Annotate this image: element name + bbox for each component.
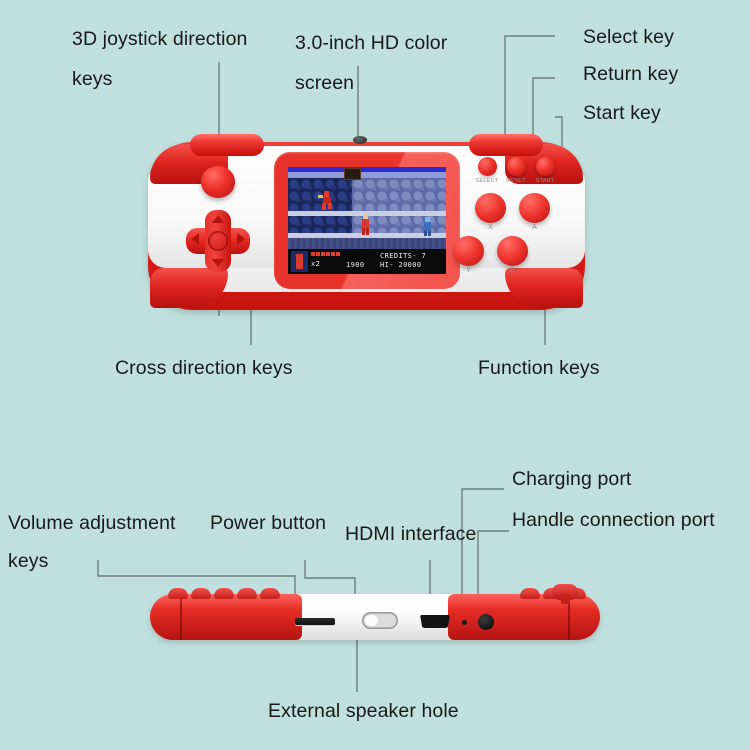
label-joystick-line2: keys bbox=[72, 66, 113, 92]
label-volume-line1: Volume adjustment bbox=[8, 510, 176, 536]
label-cross-direction-keys: Cross direction keys bbox=[115, 355, 293, 381]
hud-health-bar bbox=[311, 252, 340, 256]
volume-bumps[interactable] bbox=[168, 588, 280, 600]
shoulder-button-left[interactable] bbox=[190, 134, 264, 156]
label-joystick-line1: 3D joystick direction bbox=[72, 26, 248, 52]
console-edge-cap-right bbox=[448, 594, 600, 640]
charging-jack[interactable] bbox=[552, 584, 578, 600]
button-y[interactable] bbox=[453, 236, 484, 266]
dpad-left-icon[interactable] bbox=[191, 233, 199, 245]
hud-score: 1900 bbox=[346, 261, 364, 269]
speaker-grille-top bbox=[353, 136, 367, 144]
game-sky-haze bbox=[288, 172, 446, 178]
console-edge-cap-left bbox=[150, 594, 302, 640]
label-hdmi-interface: HDMI interface bbox=[345, 521, 476, 547]
start-button-caption: START bbox=[528, 178, 562, 184]
select-button[interactable] bbox=[478, 157, 497, 176]
button-x[interactable] bbox=[475, 193, 506, 223]
label-return-key: Return key bbox=[583, 61, 678, 87]
dpad-down-icon[interactable] bbox=[212, 259, 224, 267]
indicator-dot bbox=[462, 620, 467, 625]
label-external-speaker-hole: External speaker hole bbox=[268, 698, 459, 724]
start-button[interactable] bbox=[536, 157, 555, 176]
button-b-caption: B bbox=[497, 267, 528, 274]
hud-portrait bbox=[291, 251, 308, 272]
button-a-caption: A bbox=[519, 224, 550, 231]
button-a[interactable] bbox=[519, 193, 550, 223]
hud-hi-score: HI- 20000 bbox=[380, 261, 422, 269]
label-start-key: Start key bbox=[583, 100, 661, 126]
reset-button[interactable] bbox=[507, 157, 526, 176]
label-function-keys: Function keys bbox=[478, 355, 600, 381]
game-screen[interactable]: x2 1900 CREDITS- 7 HI- 20000 bbox=[288, 167, 446, 274]
button-y-caption: Y bbox=[453, 267, 484, 274]
label-power-button: Power button bbox=[210, 510, 326, 536]
dpad[interactable] bbox=[186, 210, 250, 272]
hdmi-port[interactable] bbox=[420, 615, 450, 628]
handheld-console-edge bbox=[150, 588, 600, 646]
label-screen-line2: screen bbox=[295, 70, 354, 96]
label-handle-connection-port: Handle connection port bbox=[512, 507, 715, 533]
button-x-caption: X bbox=[475, 224, 506, 231]
screen-bezel: x2 1900 CREDITS- 7 HI- 20000 bbox=[274, 152, 460, 289]
speaker-slot bbox=[295, 618, 335, 625]
game-door bbox=[344, 168, 361, 180]
game-wall-left bbox=[288, 178, 352, 238]
joystick-knob[interactable] bbox=[201, 166, 235, 198]
shoulder-button-right[interactable] bbox=[469, 134, 543, 156]
label-volume-line2: keys bbox=[8, 548, 49, 574]
product-diagram: 3D joystick direction keys 3.0-inch HD c… bbox=[0, 0, 750, 750]
label-screen-line1: 3.0-inch HD color bbox=[295, 30, 447, 56]
dpad-up-icon[interactable] bbox=[212, 215, 224, 223]
hud-credits: CREDITS- 7 bbox=[380, 252, 426, 260]
label-select-key: Select key bbox=[583, 24, 674, 50]
label-charging-port: Charging port bbox=[512, 466, 631, 492]
button-b[interactable] bbox=[497, 236, 528, 266]
hud-lives: x2 bbox=[311, 260, 320, 268]
edge-seam-left bbox=[180, 594, 182, 640]
game-hud: x2 1900 CREDITS- 7 HI- 20000 bbox=[288, 249, 446, 274]
handheld-console-front: x2 1900 CREDITS- 7 HI- 20000 SELECT RESE… bbox=[148, 128, 585, 310]
dpad-right-icon[interactable] bbox=[237, 233, 245, 245]
dpad-center[interactable] bbox=[208, 231, 228, 251]
power-switch[interactable] bbox=[362, 612, 398, 629]
charging-port-jack[interactable] bbox=[478, 614, 494, 630]
